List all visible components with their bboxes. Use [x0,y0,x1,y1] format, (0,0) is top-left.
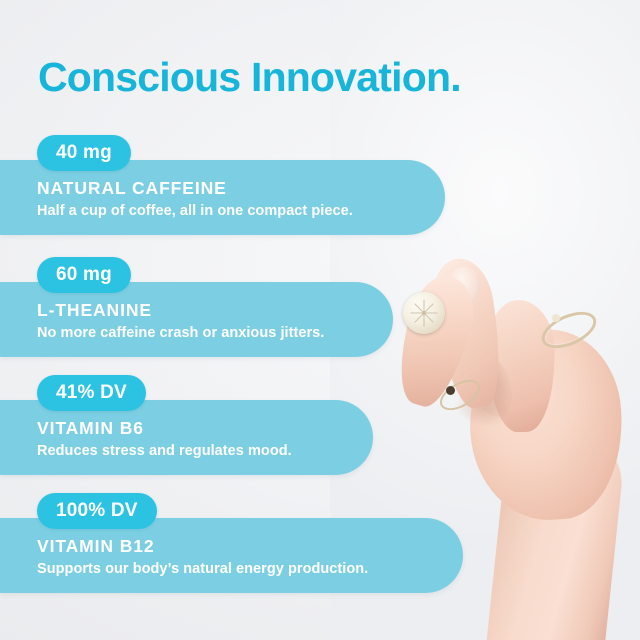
dosage-badge: 40 mg [37,135,131,171]
nutrient-name: NATURAL CAFFEINE [37,178,353,199]
ring-lower [435,374,485,417]
nutrient-description: No more caffeine crash or anxious jitter… [37,325,324,341]
nutrient-bar: L-THEANINE No more caffeine crash or anx… [0,282,393,357]
middle-finger [485,299,558,433]
dosage-badge: 60 mg [37,257,131,293]
thumb [387,269,483,413]
nutrient-name: L-THEANINE [37,300,324,321]
ring-lower-stone [446,386,455,395]
forearm [485,424,626,640]
nutrient-bar: NATURAL CAFFEINE Half a cup of coffee, a… [0,160,445,235]
nutrient-description: Half a cup of coffee, all in one compact… [37,203,353,219]
nutrient-name: VITAMIN B6 [37,418,292,439]
nutrient-name: VITAMIN B12 [37,536,368,557]
nutrient-bar: VITAMIN B6 Reduces stress and regulates … [0,400,373,475]
dosage-badge: 100% DV [37,493,157,529]
product-benefits-graphic: Conscious Innovation. NATURAL CAFFEINE H… [0,0,640,640]
page-title: Conscious Innovation. [38,54,461,101]
index-fingernail [447,265,482,306]
nutrient-description: Supports our body’s natural energy produ… [37,561,368,577]
tablet-pill [403,292,445,334]
palm [464,325,629,525]
dosage-badge: 41% DV [37,375,146,411]
finger-gap-shadow [463,348,520,423]
nutrient-bar: VITAMIN B12 Supports our body’s natural … [0,518,463,593]
index-finger [427,254,510,412]
nutrient-description: Reduces stress and regulates mood. [37,443,292,459]
ring-upper [536,305,601,356]
ring-upper-stone [552,314,560,322]
thumbnail [400,287,446,340]
tablet-burst-pattern [403,292,445,334]
knuckle-shadow [452,387,514,432]
